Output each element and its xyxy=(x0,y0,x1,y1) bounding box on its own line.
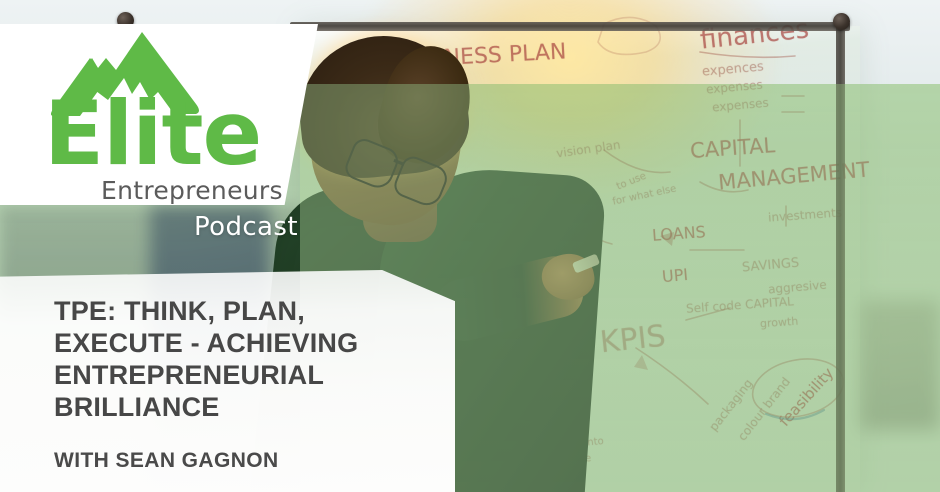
whiteboard-mount-knob-right xyxy=(833,13,850,30)
podcast-cover-image: BUSINESS PLANfinancesexpencesexpensesexp… xyxy=(0,0,940,492)
brand-name: Elite xyxy=(44,90,261,178)
brand-subtitle: Entrepreneurs xyxy=(101,176,283,205)
podcast-badge-label: Podcast xyxy=(194,212,298,242)
episode-guest: With Sean Gagnon xyxy=(54,449,434,473)
whiteboard-top-rail xyxy=(290,22,850,31)
brand-logo: Elite Entrepreneurs xyxy=(44,30,262,198)
episode-title-block: TPE: Think, Plan, Execute - Achieving En… xyxy=(54,296,434,473)
episode-title: TPE: Think, Plan, Execute - Achieving En… xyxy=(54,296,434,424)
